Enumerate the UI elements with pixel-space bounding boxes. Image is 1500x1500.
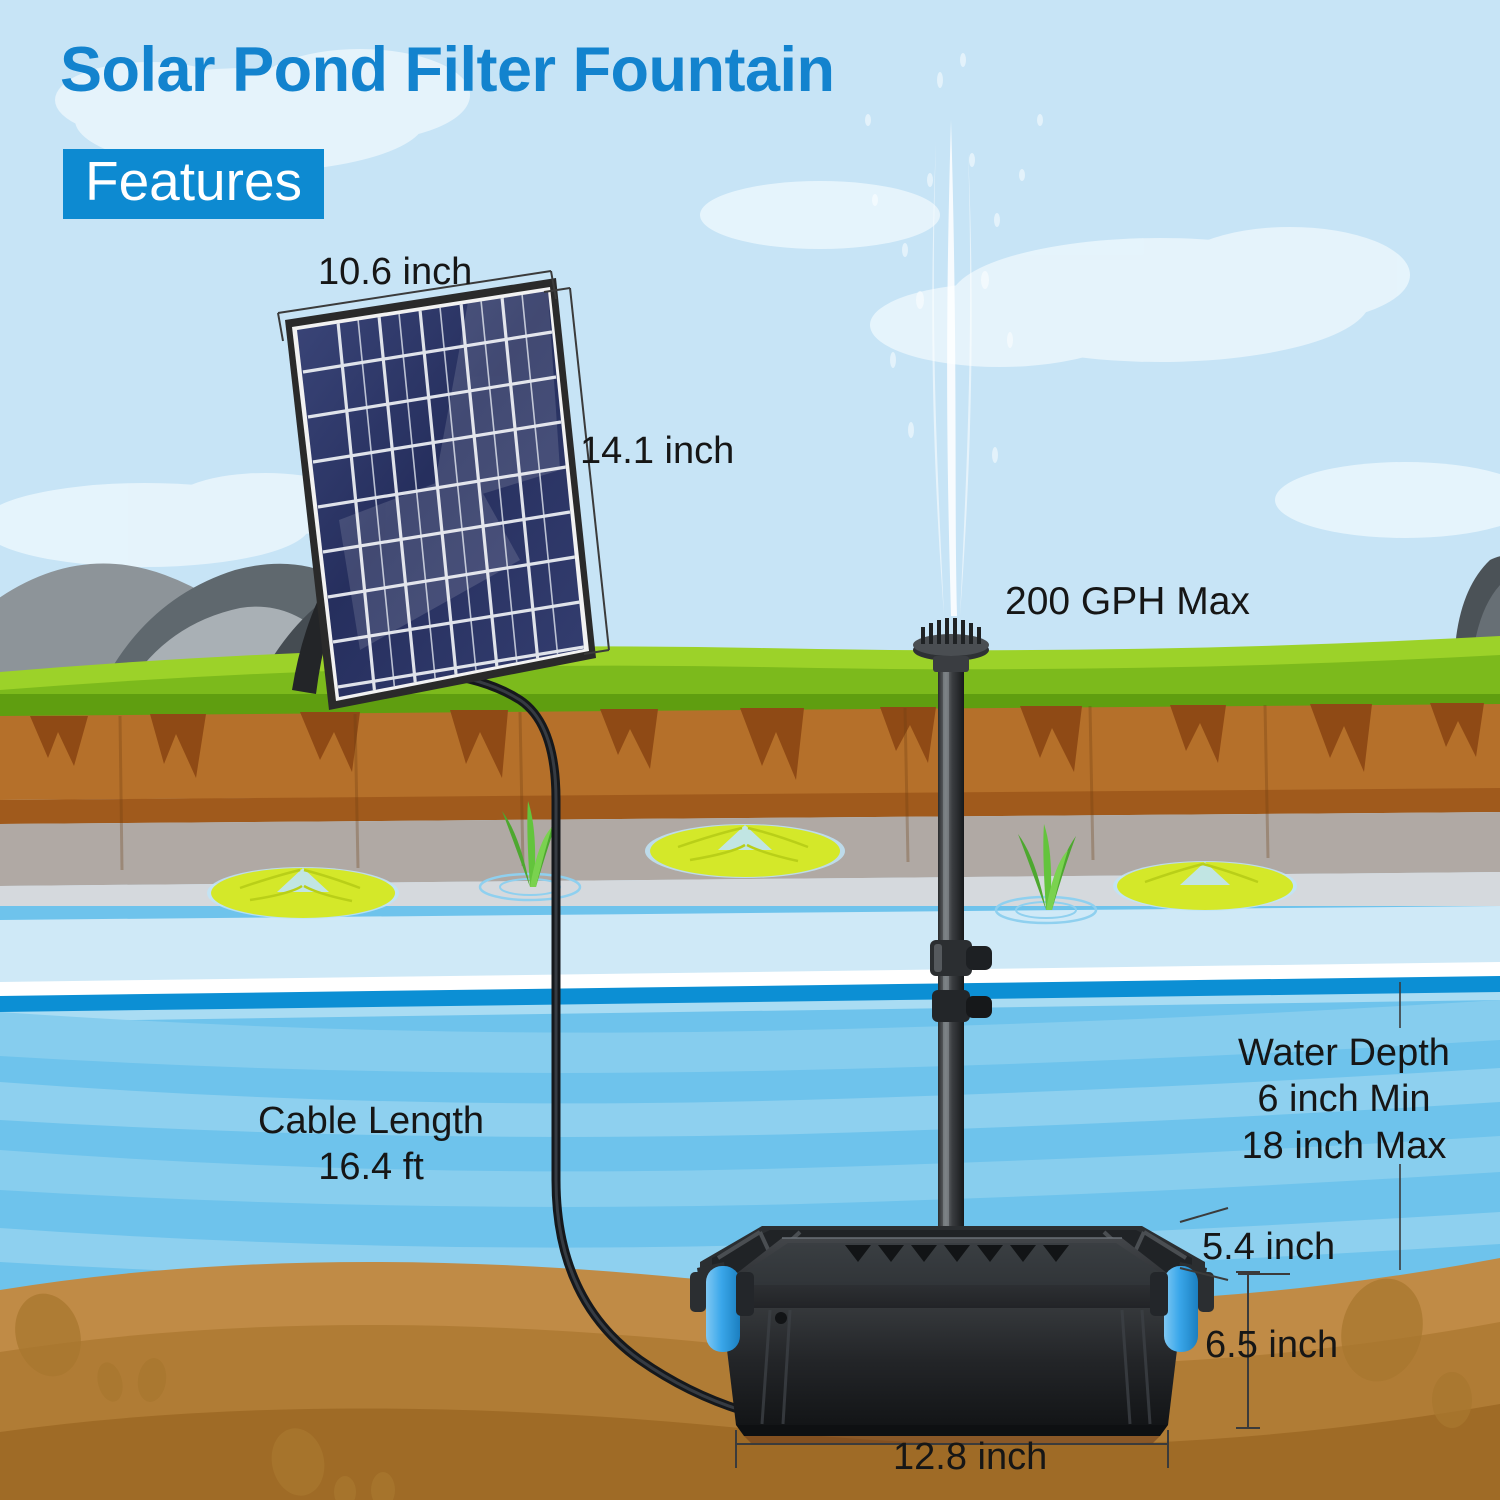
scene-illustration xyxy=(0,0,1500,1500)
panel-width-label: 10.6 inch xyxy=(318,249,472,295)
filter-body-height-label: 6.5 inch xyxy=(1205,1322,1338,1368)
features-badge: Features xyxy=(63,149,324,219)
filter-box-unit xyxy=(690,1226,1214,1444)
water-depth-min: 6 inch Min xyxy=(1238,1076,1450,1122)
filter-width-label: 12.8 inch xyxy=(893,1434,1047,1480)
infographic-canvas: Solar Pond Filter Fountain Features 10.6… xyxy=(0,0,1500,1500)
panel-height-label: 14.1 inch xyxy=(580,428,734,474)
cable-length-label: Cable Length 16.4 ft xyxy=(258,1098,484,1191)
water-depth-title: Water Depth xyxy=(1238,1030,1450,1076)
cable-length-value: 16.4 ft xyxy=(258,1144,484,1190)
solar-panel xyxy=(285,278,596,710)
pipe-joint-lower xyxy=(932,990,970,1022)
filter-lid-height-label: 5.4 inch xyxy=(1202,1224,1335,1270)
page-title: Solar Pond Filter Fountain xyxy=(60,34,835,106)
flow-rate-label: 200 GPH Max xyxy=(1005,578,1250,626)
filter-body xyxy=(722,1308,1182,1425)
water-depth-max: 18 inch Max xyxy=(1238,1123,1450,1169)
water-depth-label: Water Depth 6 inch Min 18 inch Max xyxy=(1238,1030,1450,1169)
cable-length-title: Cable Length xyxy=(258,1098,484,1144)
